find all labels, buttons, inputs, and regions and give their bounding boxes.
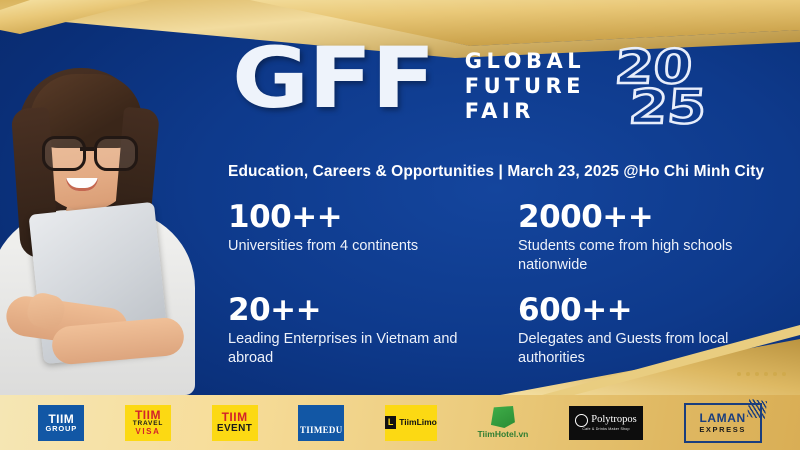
sponsor-sublabel-2: VISA (135, 428, 160, 436)
lens-right (94, 136, 138, 171)
sponsor-logo-polytropos[interactable]: Polytropos Cafe & Drinks Maker Shop (569, 406, 643, 440)
event-subtitle: Education, Careers & Opportunities | Mar… (228, 163, 764, 181)
sponsor-sublabel: EXPRESS (699, 425, 746, 434)
sponsor-logo-tiim-group[interactable]: TIIM GROUP (38, 405, 84, 441)
event-name-line-2: FUTURE (465, 76, 585, 98)
event-name-line-3: FAIR (465, 101, 585, 123)
sponsor-label: TIIM (222, 411, 248, 423)
event-name-line-1: GLOBAL (465, 51, 585, 73)
sponsor-logo-tiimhotel[interactable]: TiimHotel.vn (478, 406, 529, 439)
glasses-bridge (80, 147, 94, 151)
stat-description: Delegates and Guests from local authorit… (518, 330, 750, 369)
stat-number: 100++ (228, 200, 518, 235)
sponsor-label: TIIM (48, 413, 74, 425)
stat-description: Students come from high schools nationwi… (518, 237, 750, 276)
sponsor-label: LAMAN (699, 411, 745, 425)
stat-number: 2000++ (518, 200, 768, 235)
stat-number: 600++ (518, 293, 768, 328)
gff-acronym: GFF (232, 42, 434, 116)
sponsor-sublabel: Cafe & Drinks Maker Shop (582, 428, 629, 432)
sponsor-label: TIIMEDU (300, 426, 343, 435)
sponsor-logo-tiimedu[interactable]: TIIMEDU (298, 405, 344, 441)
sponsor-logo-tiimlimo[interactable]: L TiimLimo (385, 405, 437, 441)
ring-icon (575, 414, 588, 427)
limo-mark-icon: L (385, 416, 396, 429)
gold-dot-row (737, 372, 786, 376)
sponsor-logo-tiim-travel-visa[interactable]: TIIM TRAVEL VISA (125, 405, 171, 441)
leaf-icon (491, 406, 515, 428)
student-photo (0, 50, 215, 395)
sponsor-logo-tiim-event[interactable]: TIIM EVENT (212, 405, 258, 441)
stat-item: 100++ Universities from 4 continents (228, 200, 518, 275)
sponsor-label: TiimHotel.vn (478, 429, 529, 439)
event-name-stack: GLOBAL FUTURE FAIR (465, 42, 585, 122)
stat-description: Universities from 4 continents (228, 237, 460, 256)
lens-left (42, 136, 86, 171)
statistics-grid: 100++ Universities from 4 continents 200… (228, 200, 768, 369)
stat-description: Leading Enterprises in Vietnam and abroa… (228, 330, 460, 369)
event-logo-lockup: GFF GLOBAL FUTURE FAIR 20 25 (232, 42, 705, 136)
event-year: 20 25 (613, 44, 705, 136)
year-bottom: 25 (627, 84, 708, 131)
swoosh-icon (746, 398, 766, 418)
stat-item: 600++ Delegates and Guests from local au… (518, 293, 768, 368)
sponsor-logo-laman-express[interactable]: LAMAN EXPRESS (684, 403, 762, 443)
event-promo-banner: GFF GLOBAL FUTURE FAIR 20 25 Education, … (0, 0, 800, 450)
sponsor-sublabel: GROUP (46, 425, 78, 433)
stat-item: 2000++ Students come from high schools n… (518, 200, 768, 275)
sponsor-label: TiimLimo (399, 418, 437, 427)
stat-item: 20++ Leading Enterprises in Vietnam and … (228, 293, 518, 368)
sponsor-sublabel: EVENT (217, 424, 252, 434)
sponsor-logo-bar: TIIM GROUP TIIM TRAVEL VISA TIIM EVENT T… (0, 395, 800, 450)
sponsor-label: Polytropos (591, 415, 637, 426)
glasses-icon (40, 136, 134, 166)
stat-number: 20++ (228, 293, 518, 328)
